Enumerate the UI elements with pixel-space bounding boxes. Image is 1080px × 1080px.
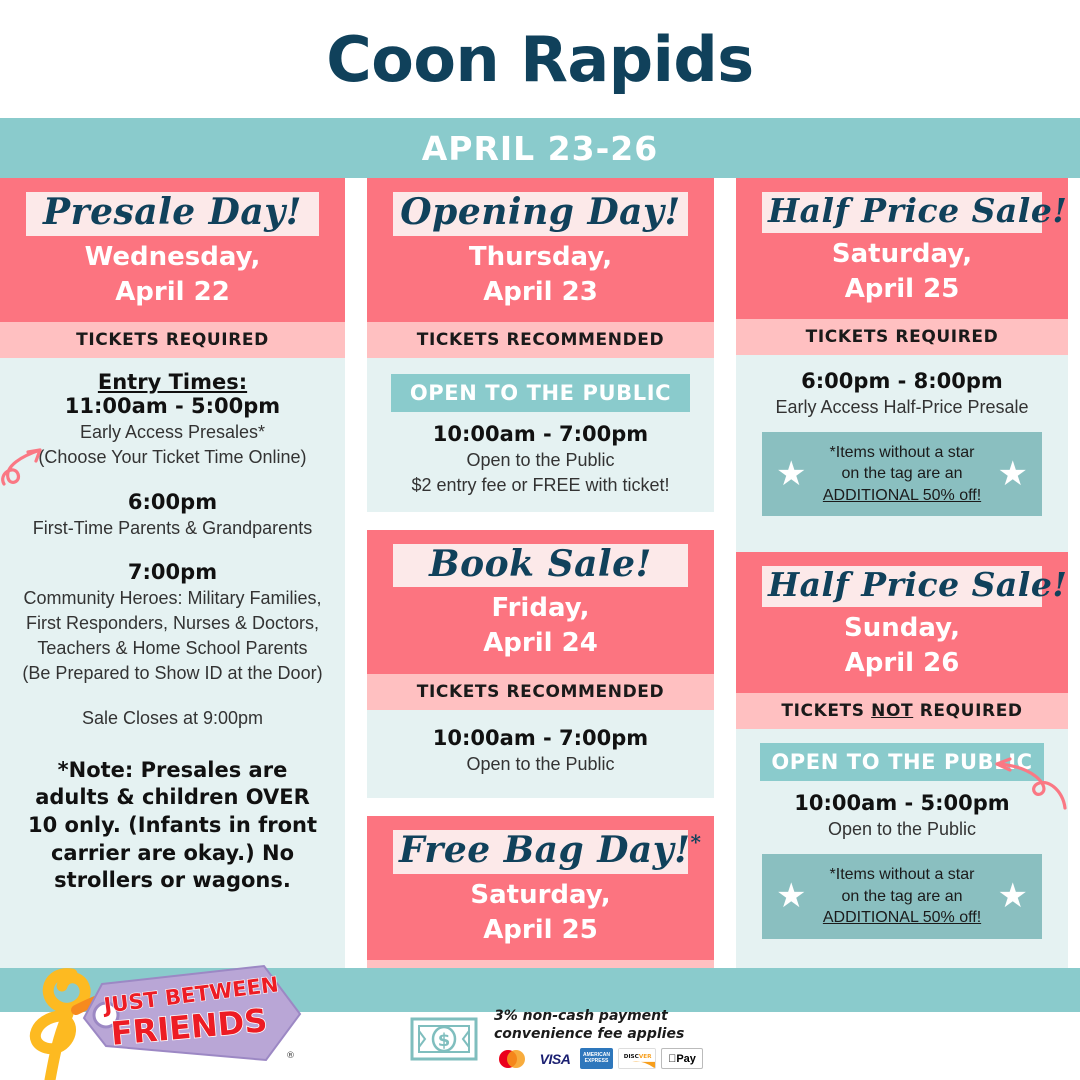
card-weekday: Saturday, — [377, 881, 704, 909]
column-left: Presale Day! Wednesday, April 22 TICKETS… — [0, 178, 345, 968]
date-range-label: APRIL 23-26 — [422, 129, 658, 168]
script-title-banner: Half Price Sale! — [762, 566, 1042, 607]
script-title: Free Bag Day!* — [399, 832, 682, 870]
card-desc-a: Open to the Public — [377, 752, 704, 777]
script-title: Opening Day! — [399, 194, 682, 232]
payment-line-1: 3% non-cash payment — [494, 1008, 703, 1026]
entry-desc-3a: Community Heroes: Military Families, — [10, 586, 335, 611]
card-half-price-saturday[interactable]: Half Price Sale! Saturday, April 25 TICK… — [736, 178, 1068, 534]
script-title-banner: Book Sale! — [393, 544, 688, 588]
card-body: OPEN TO THE PUBLIC 10:00am - 7:00pm Open… — [367, 358, 714, 512]
script-title-banner: Presale Day! — [26, 192, 319, 236]
registered-mark: ® — [286, 1051, 295, 1061]
ticket-status-band: TICKETS RECOMMENDED — [367, 322, 714, 358]
card-weekday: Thursday, — [377, 243, 704, 271]
card-header: Presale Day! Wednesday, April 22 — [0, 178, 345, 322]
star-discount-callout: ★ *Items without a star on the tag are a… — [762, 432, 1042, 517]
card-time: 10:00am - 5:00pm — [746, 791, 1058, 815]
ticket-band-not: NOT — [871, 701, 913, 721]
svg-text:$: $ — [438, 1030, 451, 1051]
entry-time-2: 6:00pm — [10, 490, 335, 514]
script-title-banner: Opening Day! — [393, 192, 688, 236]
script-title: Presale Day! — [32, 194, 313, 232]
entry-desc-2a: First-Time Parents & Grandparents — [10, 516, 335, 541]
entry-desc-1a: Early Access Presales* — [10, 420, 335, 445]
flyer-page: Coon Rapids APRIL 23-26 Presale Day! Wed… — [0, 0, 1080, 1080]
star-note-line1: *Items without a star — [830, 866, 975, 883]
card-header: Book Sale! Friday, April 24 — [367, 530, 714, 674]
card-body: OPEN TO THE PUBLIC 10:00am - 5:00pm Open… — [736, 729, 1068, 957]
card-weekday: Friday, — [377, 594, 704, 622]
asterisk-mark: * — [690, 830, 701, 854]
card-date: April 24 — [377, 629, 704, 657]
star-note-line3: ADDITIONAL 50% off! — [823, 487, 981, 504]
spacer — [10, 540, 335, 560]
star-note-text: *Items without a star on the tag are an … — [806, 864, 997, 929]
schedule-columns: Presale Day! Wednesday, April 22 TICKETS… — [0, 178, 1080, 968]
apple-pay-icon: Pay — [661, 1048, 703, 1069]
accepted-cards: VISA AMERICANEXPRESS DISCVER Pay — [494, 1048, 703, 1069]
card-desc-b: $2 entry fee or FREE with ticket! — [377, 473, 704, 498]
card-half-price-sunday[interactable]: Half Price Sale! Sunday, April 26 TICKET… — [736, 552, 1068, 956]
card-date: April 25 — [377, 916, 704, 944]
closing-time: Sale Closes at 9:00pm — [10, 706, 335, 731]
ticket-status-band: TICKETS NOT REQUIRED — [736, 693, 1068, 729]
card-header: Free Bag Day!* Saturday, April 25 — [367, 816, 714, 960]
card-presale-day[interactable]: Presale Day! Wednesday, April 22 TICKETS… — [0, 178, 345, 909]
card-date: April 23 — [377, 278, 704, 306]
svg-text:DISCVER: DISCVER — [624, 1054, 652, 1060]
script-title-banner: Half Price Sale! — [762, 192, 1042, 233]
card-book-sale[interactable]: Book Sale! Friday, April 24 TICKETS RECO… — [367, 530, 714, 799]
star-note-line2: on the tag are an — [842, 465, 963, 482]
payment-info: $ 3% non-cash payment convenience fee ap… — [410, 1008, 703, 1069]
star-discount-callout: ★ *Items without a star on the tag are a… — [762, 854, 1042, 939]
star-icon: ★ — [776, 879, 806, 913]
card-header: Half Price Sale! Saturday, April 25 — [736, 178, 1068, 319]
card-date: April 26 — [746, 649, 1058, 677]
card-weekday: Wednesday, — [10, 243, 335, 271]
entry-desc-3b: First Responders, Nurses & Doctors, — [10, 611, 335, 636]
discover-icon: DISCVER — [618, 1048, 656, 1069]
star-icon: ★ — [998, 879, 1028, 913]
card-header: Opening Day! Thursday, April 23 — [367, 178, 714, 322]
card-body: 6:00pm - 8:00pm Early Access Half-Price … — [736, 355, 1068, 535]
star-icon: ★ — [776, 457, 806, 491]
ticket-status-band: TICKETS REQUIRED — [0, 322, 345, 358]
card-body: 10:00am - 7:00pm Open to the Public — [367, 710, 714, 799]
card-time: 10:00am - 7:00pm — [377, 422, 704, 446]
dollar-bill-icon: $ — [410, 1017, 478, 1061]
ticket-band-pre: TICKETS — [781, 701, 871, 721]
card-desc-a: Early Access Half-Price Presale — [746, 395, 1058, 420]
entry-desc-3d: (Be Prepared to Show ID at the Door) — [10, 661, 335, 686]
entry-desc-1b: (Choose Your Ticket Time Online) — [10, 445, 335, 470]
card-desc-a: Open to the Public — [746, 817, 1058, 842]
entry-time-3: 7:00pm — [10, 560, 335, 584]
card-desc-a: Open to the Public — [377, 448, 704, 473]
column-right: Half Price Sale! Saturday, April 25 TICK… — [736, 178, 1068, 968]
star-note-line3: ADDITIONAL 50% off! — [823, 909, 981, 926]
amex-icon: AMERICANEXPRESS — [580, 1048, 613, 1069]
script-title-banner: Free Bag Day!* — [393, 830, 688, 874]
presale-note: *Note: Presales are adults & children OV… — [10, 757, 335, 896]
page-title: Coon Rapids — [326, 23, 753, 96]
card-body: Entry Times: 11:00am - 5:00pm Early Acce… — [0, 358, 345, 909]
card-date: April 22 — [10, 278, 335, 306]
payment-line-2: convenience fee applies — [494, 1026, 703, 1044]
star-note-text: *Items without a star on the tag are an … — [806, 442, 997, 507]
date-range-band: APRIL 23-26 — [0, 118, 1080, 178]
script-title: Half Price Sale! — [768, 194, 1036, 229]
spacer — [10, 731, 335, 757]
card-time: 10:00am - 7:00pm — [377, 726, 704, 750]
card-date: April 25 — [746, 275, 1058, 303]
card-time: 6:00pm - 8:00pm — [746, 369, 1058, 393]
spacer — [10, 470, 335, 490]
star-note-line1: *Items without a star — [830, 444, 975, 461]
spacer — [10, 686, 335, 706]
ticket-status-band: TICKETS RECOMMENDED — [367, 674, 714, 710]
script-title: Book Sale! — [399, 546, 682, 584]
card-weekday: Sunday, — [746, 614, 1058, 642]
script-title: Half Price Sale! — [768, 568, 1036, 603]
entry-times-heading: Entry Times: — [10, 370, 335, 394]
mastercard-icon — [494, 1048, 530, 1069]
header-title-bar: Coon Rapids — [0, 0, 1080, 118]
ticket-status-band: TICKETS REQUIRED — [736, 319, 1068, 355]
ticket-band-post: REQUIRED — [913, 701, 1022, 721]
column-middle: Opening Day! Thursday, April 23 TICKETS … — [367, 178, 714, 968]
jbf-logo: JUST BETWEEN FRIENDS ® — [14, 962, 304, 1080]
star-note-line2: on the tag are an — [842, 888, 963, 905]
entry-time-1: 11:00am - 5:00pm — [10, 394, 335, 418]
open-to-public-band: OPEN TO THE PUBLIC — [391, 374, 690, 412]
star-icon: ★ — [998, 457, 1028, 491]
card-header: Half Price Sale! Sunday, April 26 — [736, 552, 1068, 693]
card-opening-day[interactable]: Opening Day! Thursday, April 23 TICKETS … — [367, 178, 714, 512]
payment-text-block: 3% non-cash payment convenience fee appl… — [494, 1008, 703, 1069]
open-to-public-band: OPEN TO THE PUBLIC — [760, 743, 1044, 781]
visa-icon: VISA — [535, 1048, 575, 1069]
entry-desc-3c: Teachers & Home School Parents — [10, 636, 335, 661]
card-weekday: Saturday, — [746, 240, 1058, 268]
